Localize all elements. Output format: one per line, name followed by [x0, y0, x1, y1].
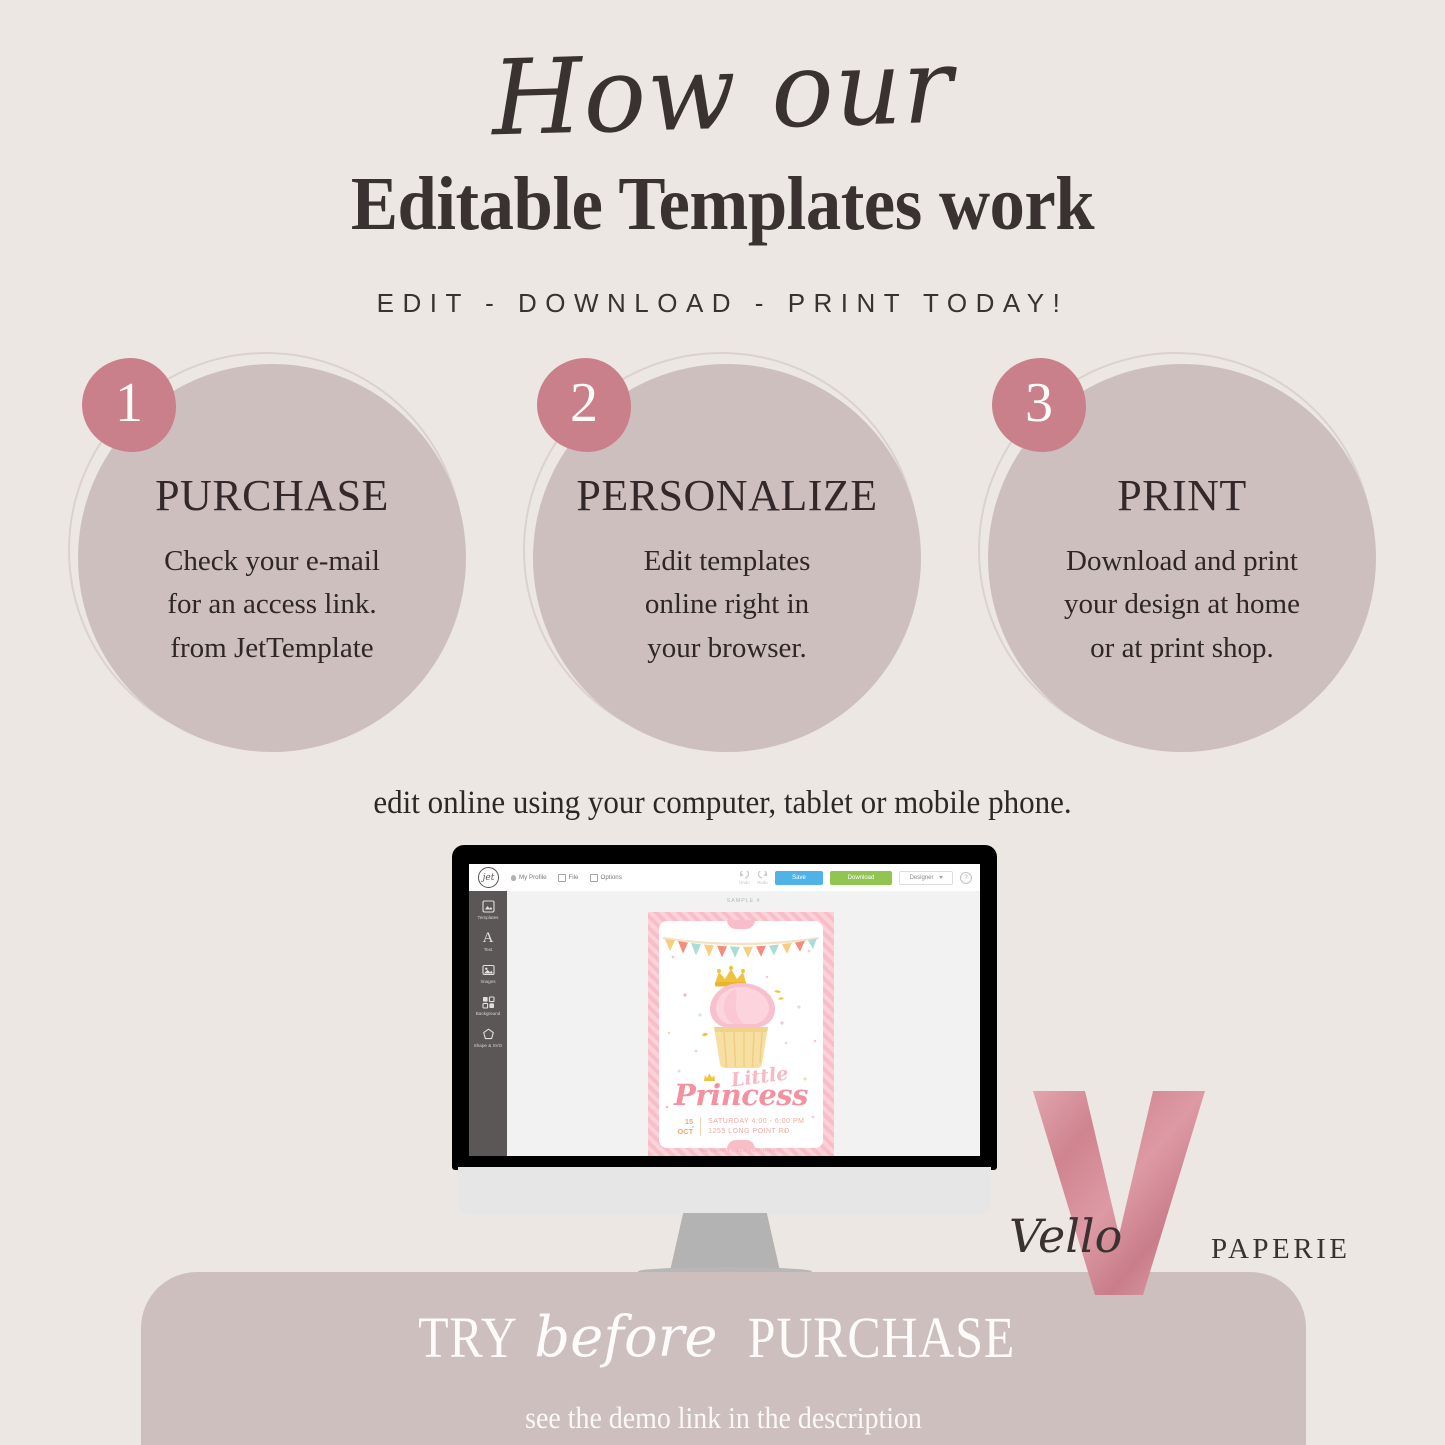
- card-detail-line: SATURDAY 4:00 - 6:00 PM: [708, 1117, 804, 1126]
- card-divider: [700, 1117, 701, 1136]
- card-detail-lines: SATURDAY 4:00 - 6:00 PM 1255 LONG POINT …: [708, 1117, 804, 1136]
- card-date-day: 15: [678, 1117, 694, 1126]
- v-monogram-icon: [1015, 1085, 1315, 1300]
- canvas-sample-label: SAMPLE #: [507, 898, 980, 904]
- sidebar-label: Shape & SVG: [474, 1043, 503, 1048]
- sidebar-label: Templates: [478, 915, 499, 920]
- redo-button[interactable]: Redo: [757, 871, 768, 885]
- sidebar-item-text[interactable]: A Text: [469, 931, 507, 952]
- sidebar-item-images[interactable]: Images: [469, 963, 507, 984]
- undo-label: Undo: [739, 880, 750, 885]
- redo-label: Redo: [757, 880, 768, 885]
- step-description-line: online right in: [644, 583, 811, 627]
- monitor-mockup: jet My Profile File Options: [452, 845, 997, 1245]
- step-description-line: for an access link.: [164, 583, 380, 627]
- person-icon: [511, 875, 516, 881]
- editor-toolbar: jet My Profile File Options: [469, 864, 980, 892]
- before-word: before: [526, 1305, 725, 1370]
- step-description-line: Check your e-mail: [164, 540, 380, 584]
- card-inner-panel: Little Princess 15 OCT SATURDAY 4:00 - 6…: [659, 921, 823, 1148]
- text-icon: A: [481, 931, 495, 945]
- card-date-month: OCT: [678, 1127, 694, 1136]
- invitation-card[interactable]: Little Princess 15 OCT SATURDAY 4:00 - 6…: [648, 912, 834, 1156]
- step-description: Check your e-mail for an access link. fr…: [164, 540, 380, 671]
- chevron-down-icon: [939, 876, 943, 879]
- header-subtitle: EDIT - DOWNLOAD - PRINT TODAY!: [0, 288, 1445, 319]
- editor-canvas[interactable]: SAMPLE #: [507, 891, 980, 1156]
- step-number-badge: 2: [537, 358, 631, 452]
- bunting-flags-icon: [663, 935, 819, 963]
- menu-options[interactable]: Options: [590, 874, 622, 882]
- step-card-2: PERSONALIZE Edit templates online right …: [523, 352, 923, 752]
- step-description: Edit templates online right in your brow…: [644, 540, 811, 671]
- step-title: PRINT: [1117, 474, 1247, 518]
- sidebar-item-background[interactable]: Background: [469, 995, 507, 1016]
- undo-button[interactable]: Undo: [739, 871, 750, 885]
- step-title: PERSONALIZE: [576, 474, 877, 518]
- menu-my-profile[interactable]: My Profile: [511, 874, 547, 881]
- brand-logo: Vello PAPERIE: [1015, 1085, 1375, 1300]
- card-main-word: Princess: [659, 1081, 823, 1110]
- brand-script-text: Vello: [1009, 1213, 1122, 1259]
- sidebar-label: Background: [476, 1011, 501, 1016]
- undo-icon: [739, 871, 750, 879]
- menu-label: Options: [601, 874, 622, 881]
- options-icon: [590, 874, 598, 882]
- jet-logo-icon: jet: [478, 867, 499, 888]
- save-button[interactable]: Save: [775, 871, 823, 885]
- page-title: Editable Templates work: [51, 166, 1395, 242]
- images-icon: [481, 963, 495, 977]
- demo-link-text: see the demo link in the description: [199, 1400, 1248, 1436]
- templates-icon: [481, 899, 495, 913]
- step-card-1: PURCHASE Check your e-mail for an access…: [68, 352, 468, 752]
- toolbar-right-group: Undo Redo Save Download Designer: [739, 871, 980, 885]
- purchase-word: PURCHASE: [747, 1304, 1014, 1371]
- card-date-block: 15 OCT: [678, 1117, 694, 1136]
- editor-sidebar: Templates A Text Images: [469, 891, 507, 1156]
- menu-file[interactable]: File: [558, 874, 579, 882]
- sidebar-label: Images: [480, 979, 495, 984]
- card-closing-line: WE HOPE TO SEE YOU THERE!: [659, 1148, 823, 1153]
- cupcake-illustration: [686, 963, 796, 1071]
- editor-screen: jet My Profile File Options: [469, 864, 980, 1156]
- tagline: edit online using your computer, tablet …: [43, 785, 1401, 822]
- step-description: Download and print your design at home o…: [1064, 540, 1300, 671]
- step-description-line: your browser.: [644, 627, 811, 671]
- background-icon: [481, 995, 495, 1009]
- download-button[interactable]: Download: [830, 871, 892, 885]
- redo-icon: [757, 871, 768, 879]
- step-description-line: your design at home: [1064, 583, 1300, 627]
- step-title: PURCHASE: [155, 474, 389, 518]
- file-icon: [558, 874, 566, 882]
- sidebar-item-templates[interactable]: Templates: [469, 899, 507, 920]
- poster-canvas: How our Editable Templates work EDIT - D…: [0, 0, 1445, 1445]
- step-description-line: Download and print: [1064, 540, 1300, 584]
- step-number-badge: 3: [992, 358, 1086, 452]
- step-number-badge: 1: [82, 358, 176, 452]
- menu-label: File: [569, 874, 579, 881]
- designer-label: Designer: [909, 875, 933, 881]
- step-card-3: PRINT Download and print your design at …: [978, 352, 1378, 752]
- step-description-line: or at print shop.: [1064, 627, 1300, 671]
- card-event-details: 15 OCT SATURDAY 4:00 - 6:00 PM 1255 LONG…: [659, 1117, 823, 1136]
- monitor-chin: [458, 1167, 991, 1215]
- brand-word-text: PAPERIE: [1211, 1233, 1350, 1266]
- shape-svg-icon: [481, 1027, 495, 1041]
- menu-label: My Profile: [519, 874, 547, 881]
- try-before-purchase-heading: TRYbeforePURCHASE: [141, 1304, 1306, 1371]
- monitor-stand: [670, 1213, 780, 1271]
- help-icon[interactable]: ?: [960, 872, 972, 884]
- designer-dropdown[interactable]: Designer: [899, 871, 953, 885]
- step-description-line: Edit templates: [644, 540, 811, 584]
- steps-row: PURCHASE Check your e-mail for an access…: [0, 352, 1445, 762]
- step-description-line: from JetTemplate: [164, 627, 380, 671]
- try-word: TRY: [419, 1304, 519, 1371]
- card-detail-line: 1255 LONG POINT RD: [708, 1127, 804, 1136]
- sidebar-label: Text: [484, 947, 492, 952]
- header-script-line: How our: [0, 18, 1445, 167]
- sidebar-item-shape-svg[interactable]: Shape & SVG: [469, 1027, 507, 1048]
